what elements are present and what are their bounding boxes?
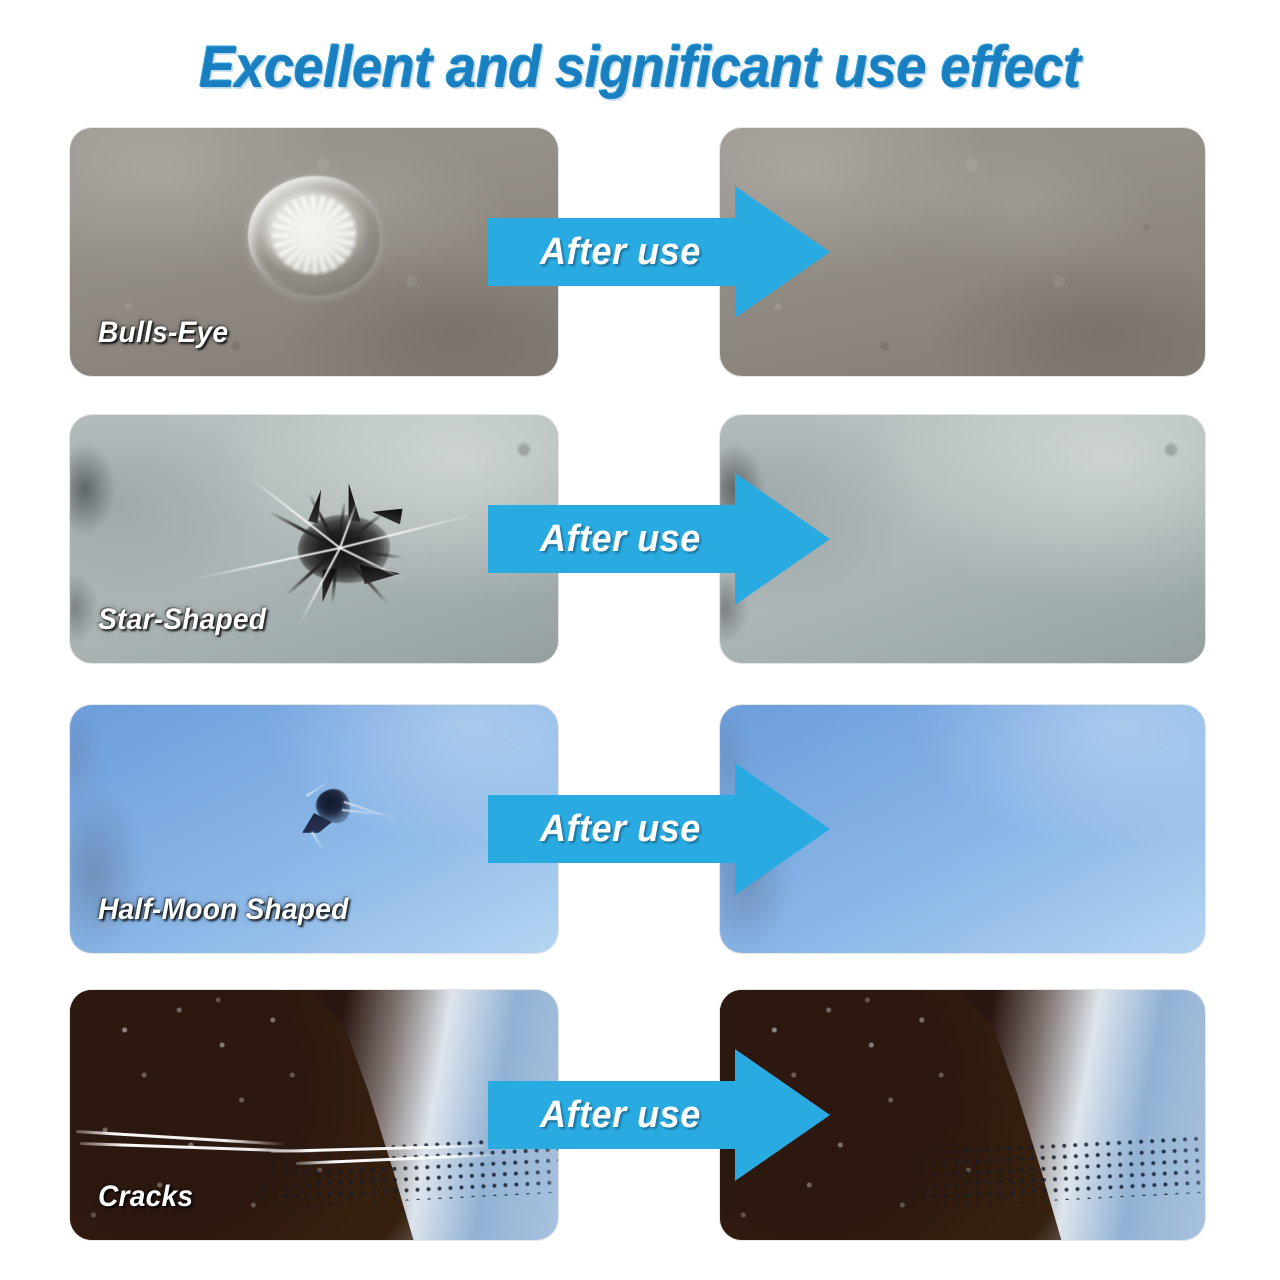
arrow-right-icon bbox=[488, 473, 830, 605]
damage-label-half-moon-shaped: Half-Moon Shaped bbox=[98, 893, 349, 927]
comparison-row-star-shaped: Star-Shaped After use bbox=[0, 415, 1280, 663]
damage-label-bulls-eye: Bulls-Eye bbox=[98, 316, 228, 350]
before-image-star-shaped: Star-Shaped bbox=[70, 415, 558, 663]
after-use-arrow-row-4: After use bbox=[488, 1049, 830, 1181]
arrow-right-icon bbox=[488, 1049, 830, 1181]
arrow-right-icon bbox=[488, 763, 830, 895]
page-title: Excellent and significant use effect bbox=[45, 34, 1235, 101]
damage-label-star-shaped: Star-Shaped bbox=[98, 603, 266, 637]
comparison-row-half-moon-shaped: Half-Moon Shaped After use bbox=[0, 705, 1280, 953]
comparison-row-cracks: Cracks After use bbox=[0, 990, 1280, 1240]
after-use-arrow-row-1: After use bbox=[488, 186, 830, 318]
after-use-arrow-row-2: After use bbox=[488, 473, 830, 605]
before-image-bulls-eye: Bulls-Eye bbox=[70, 128, 558, 376]
bulls-eye-chip-icon bbox=[248, 176, 380, 296]
star-break-icon bbox=[220, 463, 480, 623]
damage-label-cracks: Cracks bbox=[98, 1180, 193, 1214]
before-image-cracks: Cracks bbox=[70, 990, 558, 1240]
comparison-row-bulls-eye: Bulls-Eye After use bbox=[0, 128, 1280, 376]
before-image-half-moon-shaped: Half-Moon Shaped bbox=[70, 705, 558, 953]
half-moon-chip-icon bbox=[282, 783, 402, 853]
after-use-arrow-row-3: After use bbox=[488, 763, 830, 895]
arrow-right-icon bbox=[488, 186, 830, 318]
